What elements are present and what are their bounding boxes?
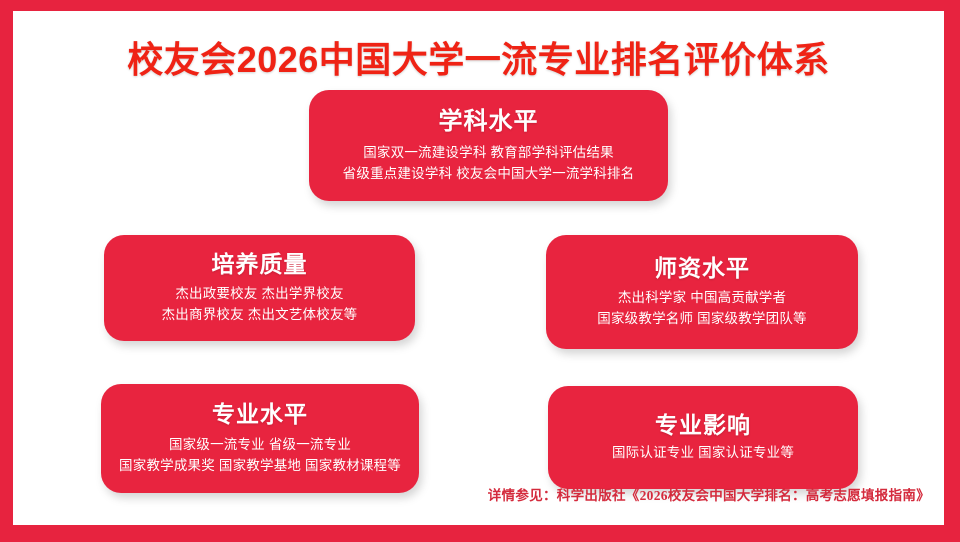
card-faculty-level: 师资水平 杰出科学家 中国高贡献学者 国家级教学名师 国家级教学团队等 [546,235,858,349]
source-footnote: 详情参见：科学出版社《2026校友会中国大学排名：高考志愿填报指南》 [488,484,930,504]
card-title: 专业影响 [655,411,751,440]
card-title: 师资水平 [654,254,750,283]
card-detail-line: 杰出商界校友 杰出文艺体校友等 [162,305,358,326]
card-detail-line: 省级重点建设学科 校友会中国大学一流学科排名 [343,164,635,185]
card-detail-line: 国家级教学名师 国家级教学团队等 [597,309,806,330]
card-training-quality: 培养质量 杰出政要校友 杰出学界校友 杰出商界校友 杰出文艺体校友等 [104,235,415,341]
card-detail-line: 国家教学成果奖 国家教学基地 国家教材课程等 [119,456,401,477]
card-title: 学科水平 [439,107,539,137]
card-detail-line: 杰出政要校友 杰出学界校友 [162,284,358,305]
card-major-influence: 专业影响 国际认证专业 国家认证专业等 [548,386,858,489]
card-title: 培养质量 [212,250,308,279]
card-title: 专业水平 [212,400,308,429]
card-detail-lines: 国家级一流专业 省级一流专业 国家教学成果奖 国家教学基地 国家教材课程等 [119,435,401,477]
poster-inner-panel: 校友会2026中国大学一流专业排名评价体系 学科水平 国家双一流建设学科 教育部… [13,11,944,525]
card-detail-lines: 国际认证专业 国家认证专业等 [612,443,794,464]
card-detail-line: 国家双一流建设学科 教育部学科评估结果 [343,143,635,164]
card-discipline-level: 学科水平 国家双一流建设学科 教育部学科评估结果 省级重点建设学科 校友会中国大… [309,90,668,201]
card-detail-line: 杰出科学家 中国高贡献学者 [597,288,806,309]
card-detail-line: 国际认证专业 国家认证专业等 [612,443,794,464]
poster-root: 校友会2026中国大学一流专业排名评价体系 学科水平 国家双一流建设学科 教育部… [0,0,960,542]
card-detail-lines: 杰出政要校友 杰出学界校友 杰出商界校友 杰出文艺体校友等 [162,284,358,326]
card-detail-lines: 杰出科学家 中国高贡献学者 国家级教学名师 国家级教学团队等 [597,288,806,330]
card-detail-line: 国家级一流专业 省级一流专业 [119,435,401,456]
card-major-level: 专业水平 国家级一流专业 省级一流专业 国家教学成果奖 国家教学基地 国家教材课… [101,384,419,493]
page-title: 校友会2026中国大学一流专业排名评价体系 [13,40,944,80]
card-detail-lines: 国家双一流建设学科 教育部学科评估结果 省级重点建设学科 校友会中国大学一流学科… [343,143,635,185]
